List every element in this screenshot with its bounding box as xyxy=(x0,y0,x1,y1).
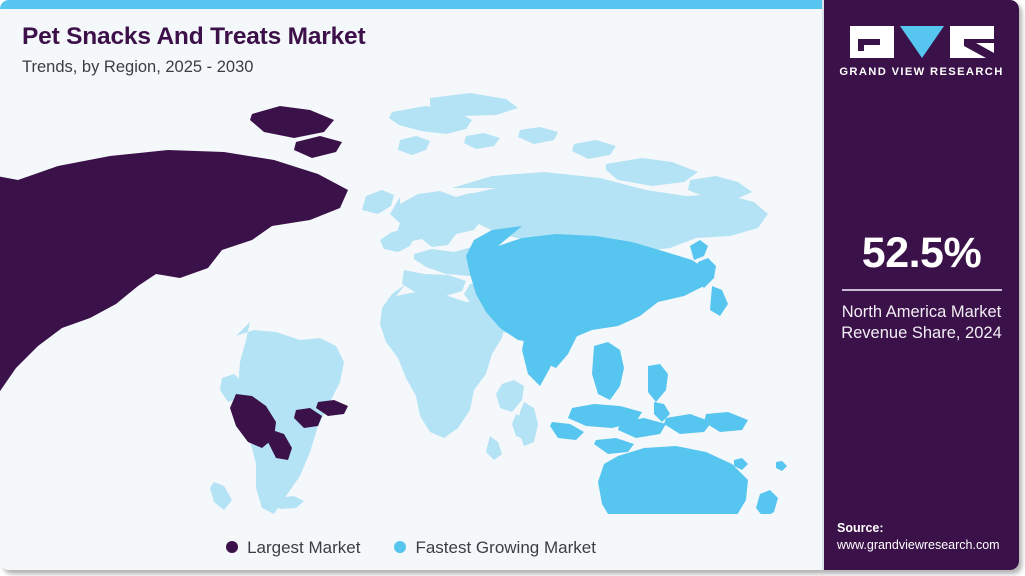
page-subtitle: Trends, by Region, 2025 - 2030 xyxy=(22,58,722,76)
world-map xyxy=(0,84,822,514)
stat-caption-line1: North America Market xyxy=(824,302,1019,324)
legend-label: Fastest Growing Market xyxy=(415,539,595,556)
stat-caption-line2: Revenue Share, 2024 xyxy=(824,323,1019,345)
stat-divider xyxy=(842,289,1002,291)
world-map-svg xyxy=(0,84,822,514)
brand-logo: GRAND VIEW RESEARCH xyxy=(824,26,1019,78)
infographic-card: Pet Snacks And Treats Market Trends, by … xyxy=(0,0,1019,570)
logo-wordmark: GRAND VIEW RESEARCH xyxy=(839,66,1003,78)
map-region-asia-pacific xyxy=(466,226,787,514)
accent-top-bar xyxy=(0,0,822,9)
legend-item-fastest-growing-market[interactable]: Fastest Growing Market xyxy=(394,539,595,556)
source-block: Source: www.grandviewresearch.com xyxy=(837,520,1017,554)
logo-letter-r-icon xyxy=(950,26,994,58)
source-label: Source: xyxy=(837,520,1017,537)
logo-letter-v-icon xyxy=(900,26,944,58)
page-title: Pet Snacks And Treats Market xyxy=(22,24,722,51)
legend-label: Largest Market xyxy=(247,539,360,556)
map-region-north-america xyxy=(0,106,348,472)
header: Pet Snacks And Treats Market Trends, by … xyxy=(22,24,722,76)
legend-item-largest-market[interactable]: Largest Market xyxy=(226,539,360,556)
side-panel: GRAND VIEW RESEARCH 52.5% North America … xyxy=(824,0,1019,570)
source-url[interactable]: www.grandviewresearch.com xyxy=(837,537,1017,554)
map-region: Pet Snacks And Treats Market Trends, by … xyxy=(0,0,822,570)
logo-letter-g-icon xyxy=(850,26,894,58)
legend-dot-icon xyxy=(394,541,406,553)
stat-block: 52.5% North America Market Revenue Share… xyxy=(824,232,1019,345)
logo-marks xyxy=(850,26,994,58)
stat-value: 52.5% xyxy=(824,232,1019,275)
legend-dot-icon xyxy=(226,541,238,553)
map-legend: Largest Market Fastest Growing Market xyxy=(0,530,822,564)
